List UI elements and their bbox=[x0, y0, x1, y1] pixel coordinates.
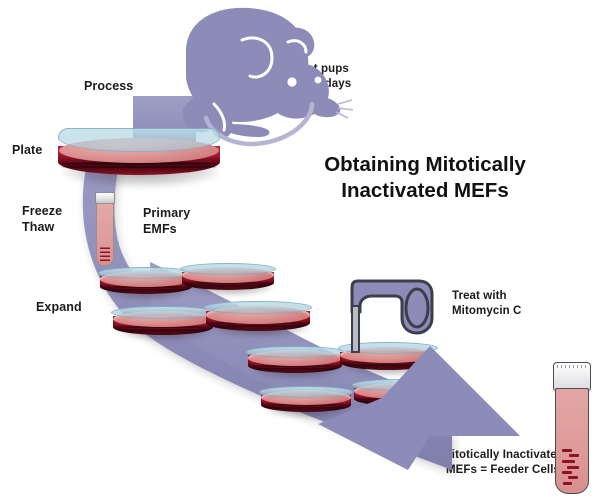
pipettor-icon bbox=[0, 0, 600, 504]
figure-canvas: Obtaining Mitotically Inactivated MEFs P… bbox=[0, 0, 600, 504]
